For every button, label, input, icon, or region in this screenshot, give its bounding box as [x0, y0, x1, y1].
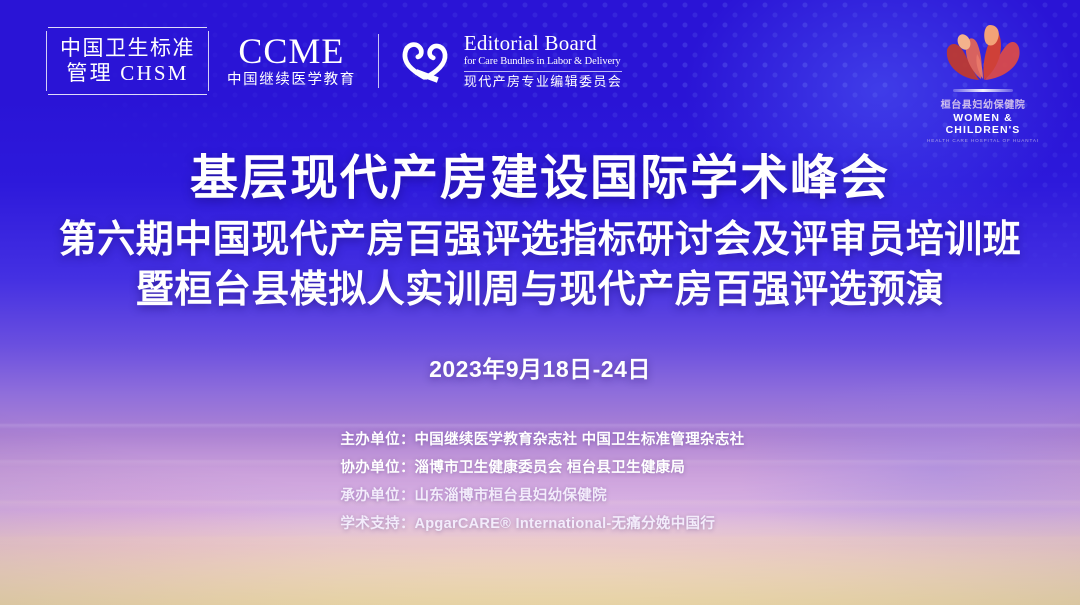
credit-value: 中国继续医学教育杂志社 中国卫生标准管理杂志社	[415, 428, 767, 453]
partner-logos-group: 中国卫生标准 管理 CHSM CCME 中国继续医学教育	[46, 27, 622, 95]
credit-label: 承办单位	[314, 484, 400, 509]
chsm-logo: 中国卫生标准 管理 CHSM	[46, 27, 209, 95]
editorial-board-line3: 现代产房专业编辑委员会	[464, 75, 622, 89]
editorial-board-line1: Editorial Board	[464, 32, 622, 55]
hospital-logo: 桓台县妇幼保健院 WOMEN & CHILDREN'S HEALTH CARE …	[920, 22, 1046, 143]
credit-value: ApgarCARE® International-无痛分娩中国行	[415, 512, 767, 537]
credit-value: 山东淄博市桓台县妇幼保健院	[415, 484, 767, 509]
chsm-logo-rule-right	[208, 31, 209, 91]
editorial-board-rule	[464, 71, 622, 72]
credit-row-co-organizer: 协办单位 ： 淄博市卫生健康委员会 桓台县卫生健康局	[314, 456, 766, 481]
editorial-board-line2: for Care Bundles in Labor & Delivery	[464, 56, 622, 68]
subtitle-line-1: 第六期中国现代产房百强评选指标研讨会及评审员培训班	[0, 214, 1080, 264]
credit-colon: ：	[400, 512, 415, 537]
credits-block: 主办单位 ： 中国继续医学教育杂志社 中国卫生标准管理杂志社 协办单位 ： 淄博…	[0, 428, 1080, 537]
credit-value: 淄博市卫生健康委员会 桓台县卫生健康局	[415, 456, 767, 481]
credit-colon: ：	[400, 456, 415, 481]
hospital-logo-bar	[953, 89, 1013, 92]
credit-label: 主办单位	[314, 428, 400, 453]
credit-label: 协办单位	[314, 456, 400, 481]
lotus-icon	[920, 22, 1046, 86]
hospital-logo-tagline: HEALTH CARE HOSPITAL OF HUANTAI	[920, 138, 1046, 143]
credit-colon: ：	[400, 484, 415, 509]
credit-colon: ：	[400, 428, 415, 453]
event-date: 2023年9月18日-24日	[0, 350, 1080, 384]
credit-row-organizer: 主办单位 ： 中国继续医学教育杂志社 中国卫生标准管理杂志社	[314, 428, 766, 453]
logo-divider	[378, 34, 379, 88]
ccme-logo-acronym: CCME	[227, 33, 356, 71]
title-block: 基层现代产房建设国际学术峰会 第六期中国现代产房百强评选指标研讨会及评审员培训班…	[0, 152, 1080, 384]
hospital-logo-english: WOMEN & CHILDREN'S	[920, 112, 1046, 136]
chsm-logo-line2: 管理 CHSM	[60, 61, 195, 86]
subtitle-line-2: 暨桓台县模拟人实训周与现代产房百强评选预演	[0, 264, 1080, 314]
ccme-logo-chinese: 中国继续医学教育	[227, 73, 356, 88]
page-title: 基层现代产房建设国际学术峰会	[0, 152, 1080, 206]
header-logo-bar: 中国卫生标准 管理 CHSM CCME 中国继续医学教育	[0, 0, 1080, 130]
editorial-board-logo: Editorial Board for Care Bundles in Labo…	[397, 32, 622, 90]
hospital-logo-chinese: 桓台县妇幼保健院	[920, 96, 1046, 111]
editorial-board-text: Editorial Board for Care Bundles in Labo…	[464, 32, 622, 89]
chsm-logo-rule-left	[46, 31, 47, 91]
credit-row-host: 承办单位 ： 山东淄博市桓台县妇幼保健院	[314, 484, 766, 509]
credit-label: 学术支持	[314, 512, 400, 537]
heart-icon	[397, 32, 455, 90]
conference-poster: 中国卫生标准 管理 CHSM CCME 中国继续医学教育	[0, 0, 1080, 605]
ccme-logo: CCME 中国继续医学教育	[227, 33, 360, 88]
credit-row-academic-support: 学术支持 ： ApgarCARE® International-无痛分娩中国行	[314, 512, 766, 537]
chsm-logo-line1: 中国卫生标准	[60, 36, 195, 61]
